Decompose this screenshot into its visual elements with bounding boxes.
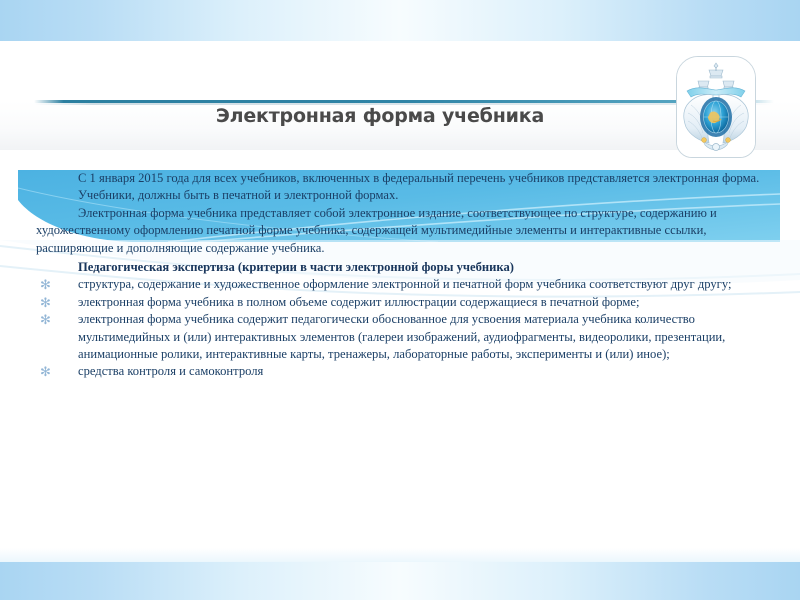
list-item: ✻ средства контроля и самоконтроля: [18, 363, 786, 380]
double-headed-eagle-emblem: [676, 56, 756, 158]
criteria-heading: Педагогическая экспертиза (критерии в ча…: [18, 259, 786, 276]
list-item: ✻ электронная форма учебника в полном об…: [18, 294, 786, 311]
asterisk-bullet-icon: ✻: [40, 363, 51, 380]
presentation-slide: Электронная форма учебника: [0, 0, 800, 600]
criteria-list: ✻ структура, содержание и художественное…: [18, 276, 786, 380]
body-paragraph-3: Электронная форма учебника представляет …: [18, 205, 786, 257]
body-paragraph-2: Учебники, должны быть в печатной и элект…: [18, 187, 786, 204]
asterisk-bullet-icon: ✻: [40, 276, 51, 293]
list-item-label: структура, содержание и художественное о…: [78, 277, 731, 291]
asterisk-bullet-icon: ✻: [40, 311, 51, 328]
page-title: Электронная форма учебника: [120, 105, 640, 127]
body-paragraph-1: С 1 января 2015 года для всех учебников,…: [18, 170, 786, 187]
bottom-decorative-band: [0, 562, 800, 600]
list-item-label: электронная форма учебника в полном объе…: [78, 295, 639, 309]
list-item-label: средства контроля и самоконтроля: [78, 364, 263, 378]
list-item-label: электронная форма учебника содержит педа…: [78, 312, 725, 361]
slide-body: С 1 января 2015 года для всех учебников,…: [18, 170, 786, 381]
list-item: ✻ структура, содержание и художественное…: [18, 276, 786, 293]
top-decorative-band: [0, 0, 800, 41]
asterisk-bullet-icon: ✻: [40, 294, 51, 311]
list-item: ✻ электронная форма учебника содержит пе…: [18, 311, 786, 363]
